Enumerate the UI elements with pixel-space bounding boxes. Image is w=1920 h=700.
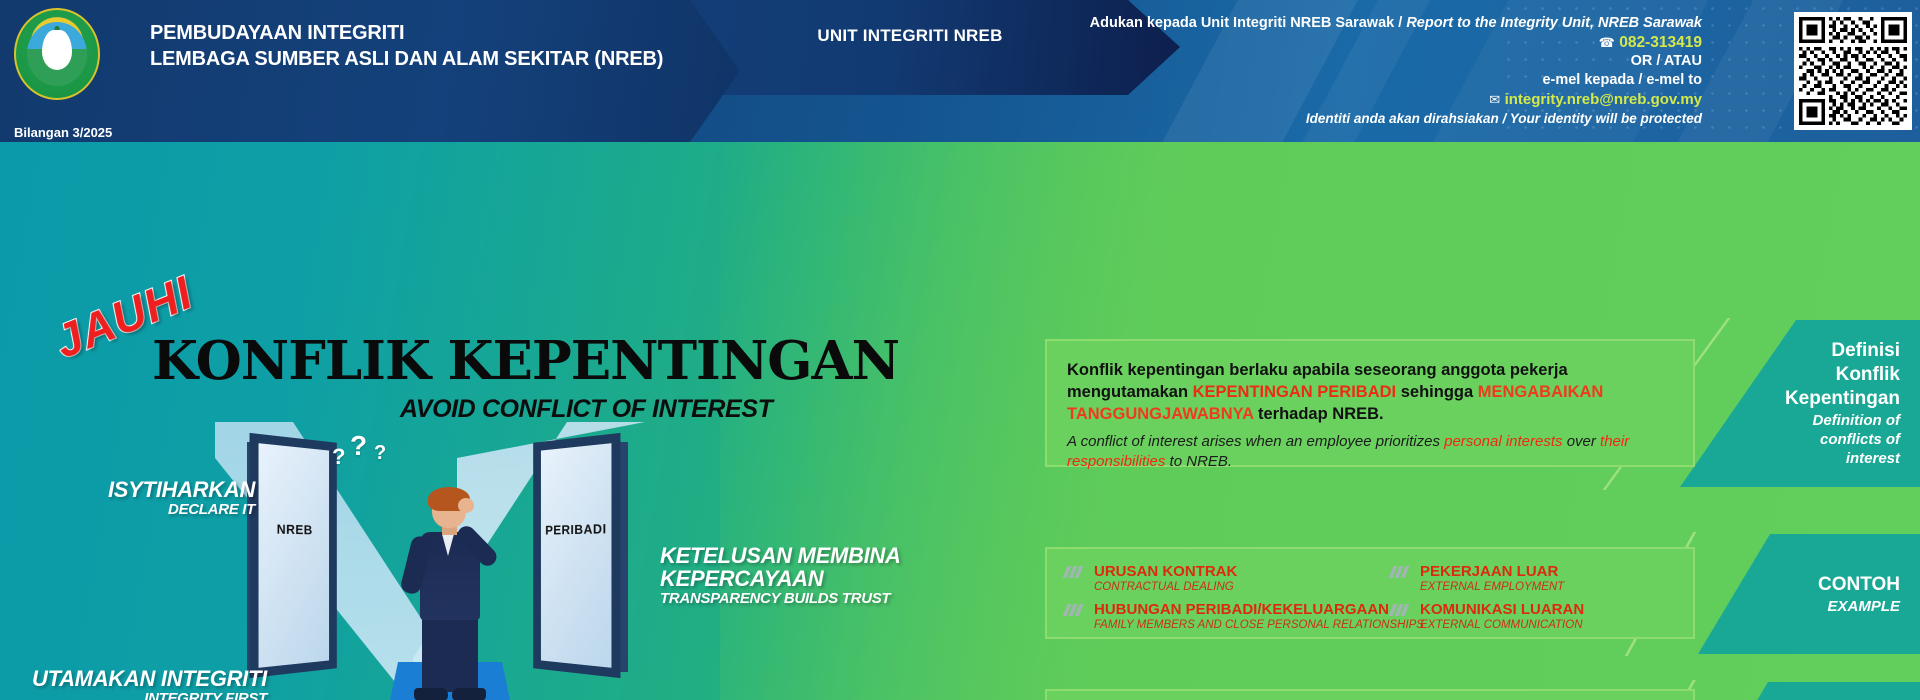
door-peribadi: PERIBADI bbox=[533, 433, 620, 678]
tab-definition-bm: Definisi Konflik Kepentingan bbox=[1785, 339, 1900, 411]
tab-definition-bm-line1: Definisi bbox=[1785, 339, 1900, 363]
tagline-integrity: UTAMAKAN INTEGRITI INTEGRITY FIRST bbox=[32, 667, 267, 700]
header-bar: PEMBUDAYAAN INTEGRITI LEMBAGA SUMBER ASL… bbox=[0, 0, 1920, 142]
definition-en-highlight-1: personal interests bbox=[1444, 433, 1562, 450]
example-text: PEKERJAAN LUAR EXTERNAL EMPLOYMENT bbox=[1420, 563, 1564, 594]
stripes-bullet-icon bbox=[1065, 604, 1086, 617]
contact-phone-line[interactable]: ☎ 082-313419 bbox=[1062, 33, 1702, 52]
qr-code[interactable] bbox=[1794, 12, 1912, 130]
door-peribadi-panel bbox=[541, 443, 612, 668]
hero-subheadline: AVOID CONFLICT OF INTEREST bbox=[400, 395, 772, 424]
tab-definition-bm-line2: Konflik bbox=[1785, 363, 1900, 387]
figure-hand-right bbox=[458, 498, 474, 513]
example-en: EXTERNAL COMMUNICATION bbox=[1420, 618, 1584, 632]
tagline-transparency-en: TRANSPARENCY BUILDS TRUST bbox=[660, 590, 901, 607]
tab-definition-en-line1: Definition of bbox=[1813, 411, 1900, 430]
example-item: PEKERJAAN LUAR EXTERNAL EMPLOYMENT bbox=[1391, 563, 1675, 594]
envelope-icon: ✉ bbox=[1489, 92, 1500, 107]
nreb-logo bbox=[14, 8, 100, 100]
example-text: KOMUNIKASI LUARAN EXTERNAL COMMUNICATION bbox=[1420, 601, 1584, 632]
example-bm: KOMUNIKASI LUARAN bbox=[1420, 601, 1584, 618]
definition-bm-part2: sehingga bbox=[1396, 383, 1478, 401]
question-mark-1: ? bbox=[332, 444, 345, 470]
contact-email[interactable]: integrity.nreb@nreb.gov.my bbox=[1505, 91, 1702, 108]
examples-card: URUSAN KONTRAK CONTRACTUAL DEALING HUBUN… bbox=[1045, 547, 1695, 639]
definition-bm-text: Konflik kepentingan berlaku apabila sese… bbox=[1067, 359, 1673, 425]
example-en: FAMILY MEMBERS AND CLOSE PERSONAL RELATI… bbox=[1094, 618, 1424, 632]
examples-column-right: PEKERJAAN LUAR EXTERNAL EMPLOYMENT KOMUN… bbox=[1391, 563, 1675, 639]
definition-en-text: A conflict of interest arises when an em… bbox=[1067, 432, 1673, 472]
question-marks-icon: ? ? ? bbox=[326, 428, 396, 478]
example-item: HUBUNGAN PERIBADI/KEKELUARGAAN FAMILY ME… bbox=[1065, 601, 1365, 632]
question-mark-3: ? bbox=[374, 442, 386, 465]
contact-report-line: Adukan kepada Unit Integriti NREB Sarawa… bbox=[1062, 14, 1702, 33]
definition-en-part3: to NREB. bbox=[1165, 453, 1232, 470]
example-en: EXTERNAL EMPLOYMENT bbox=[1420, 580, 1564, 594]
tab-definition-en-line3: interest bbox=[1813, 449, 1900, 468]
example-bm: PEKERJAAN LUAR bbox=[1420, 563, 1564, 580]
figure-shoe-right bbox=[452, 688, 486, 700]
stripes-bullet-icon bbox=[1391, 566, 1412, 579]
definition-en-part1: A conflict of interest arises when an em… bbox=[1067, 433, 1444, 450]
example-text: HUBUNGAN PERIBADI/KEKELUARGAAN FAMILY ME… bbox=[1094, 601, 1424, 632]
tagline-integrity-en: INTEGRITY FIRST bbox=[32, 690, 267, 700]
definition-en-part2: over bbox=[1563, 433, 1601, 450]
example-bm: URUSAN KONTRAK bbox=[1094, 563, 1237, 580]
examples-column-left: URUSAN KONTRAK CONTRACTUAL DEALING HUBUN… bbox=[1065, 563, 1365, 639]
contact-separator: / bbox=[1398, 15, 1402, 31]
header-title: PEMBUDAYAAN INTEGRITI LEMBAGA SUMBER ASL… bbox=[150, 20, 663, 72]
contact-report-en: Report to the Integrity Unit, NREB Saraw… bbox=[1406, 15, 1702, 31]
phone-icon: ☎ bbox=[1599, 35, 1615, 50]
figure-shoe-left bbox=[414, 688, 448, 700]
issue-number: Bilangan 3/2025 bbox=[14, 125, 112, 140]
example-text: URUSAN KONTRAK CONTRACTUAL DEALING bbox=[1094, 563, 1237, 594]
example-item: URUSAN KONTRAK CONTRACTUAL DEALING bbox=[1065, 563, 1365, 594]
tab-examples-bm: CONTOH bbox=[1818, 573, 1900, 597]
question-mark-2: ? bbox=[350, 430, 367, 462]
contact-email-label: e-mel kepada / e-mel to bbox=[1062, 71, 1702, 90]
tab-examples-en: EXAMPLE bbox=[1827, 597, 1900, 616]
stripes-bullet-icon bbox=[1065, 566, 1086, 579]
example-item: KOMUNIKASI LUARAN EXTERNAL COMMUNICATION bbox=[1391, 601, 1675, 632]
door-nreb-label: NREB bbox=[250, 521, 337, 538]
poster-body: NREB PERIBADI ? ? ? bbox=[0, 142, 1920, 700]
confused-employee-figure bbox=[392, 492, 512, 700]
logo-hand-icon bbox=[42, 30, 72, 70]
door-nreb: NREB bbox=[250, 433, 337, 678]
contact-email-line[interactable]: ✉ integrity.nreb@nreb.gov.my bbox=[1062, 90, 1702, 109]
qr-code-icon bbox=[1799, 17, 1907, 125]
header-title-line1: PEMBUDAYAAN INTEGRITI bbox=[150, 20, 663, 46]
tagline-transparency: KETELUSAN MEMBINA KEPERCAYAAN TRANSPAREN… bbox=[660, 544, 901, 607]
action-card: Laporkan sebarang kemungkinan konflik ke… bbox=[1045, 689, 1695, 700]
contact-or-label: OR / ATAU bbox=[1062, 52, 1702, 71]
door-nreb-panel bbox=[259, 443, 330, 668]
definition-card: Konflik kepentingan berlaku apabila sese… bbox=[1045, 339, 1695, 467]
tab-definition-en: Definition of conflicts of interest bbox=[1813, 411, 1900, 468]
figure-legs bbox=[422, 616, 478, 692]
tagline-declare-en: DECLARE IT bbox=[108, 501, 255, 518]
contact-report-bm: Adukan kepada Unit Integriti NREB Sarawa… bbox=[1090, 15, 1395, 31]
action-card-inner: Laporkan sebarang kemungkinan konflik ke… bbox=[1047, 691, 1693, 700]
tagline-declare-bm: ISYTIHARKAN bbox=[108, 478, 255, 501]
tab-definition-en-line2: conflicts of bbox=[1813, 430, 1900, 449]
example-bm: HUBUNGAN PERIBADI/KEKELUARGAAN bbox=[1094, 601, 1424, 618]
tagline-transparency-bm-line1: KETELUSAN MEMBINA bbox=[660, 544, 901, 567]
contact-phone[interactable]: 082-313419 bbox=[1619, 34, 1702, 51]
tagline-transparency-bm-line2: KEPERCAYAAN bbox=[660, 567, 901, 590]
examples-grid: URUSAN KONTRAK CONTRACTUAL DEALING HUBUN… bbox=[1047, 549, 1693, 639]
stripes-bullet-icon bbox=[1391, 604, 1412, 617]
contact-privacy-note: Identiti anda akan dirahsiakan / Your id… bbox=[1062, 109, 1702, 128]
unit-title: UNIT INTEGRITI NREB bbox=[760, 26, 1060, 46]
header-title-line2: LEMBAGA SUMBER ASLI DAN ALAM SEKITAR (NR… bbox=[150, 46, 663, 72]
poster-canvas: PEMBUDAYAAN INTEGRITI LEMBAGA SUMBER ASL… bbox=[0, 0, 1920, 700]
definition-card-inner: Konflik kepentingan berlaku apabila sese… bbox=[1047, 341, 1693, 472]
tagline-declare: ISYTIHARKAN DECLARE IT bbox=[108, 478, 255, 518]
hero-headline: KONFLIK KEPENTINGAN bbox=[152, 330, 899, 392]
tab-definition-bm-line3: Kepentingan bbox=[1785, 387, 1900, 411]
example-en: CONTRACTUAL DEALING bbox=[1094, 580, 1237, 594]
tagline-integrity-bm: UTAMAKAN INTEGRITI bbox=[32, 667, 267, 690]
definition-bm-highlight-1: KEPENTINGAN PERIBADI bbox=[1193, 383, 1397, 401]
definition-bm-part3: terhadap NREB. bbox=[1253, 405, 1383, 423]
door-peribadi-label: PERIBADI bbox=[533, 521, 620, 538]
contact-block: Adukan kepada Unit Integriti NREB Sarawa… bbox=[1062, 14, 1702, 128]
